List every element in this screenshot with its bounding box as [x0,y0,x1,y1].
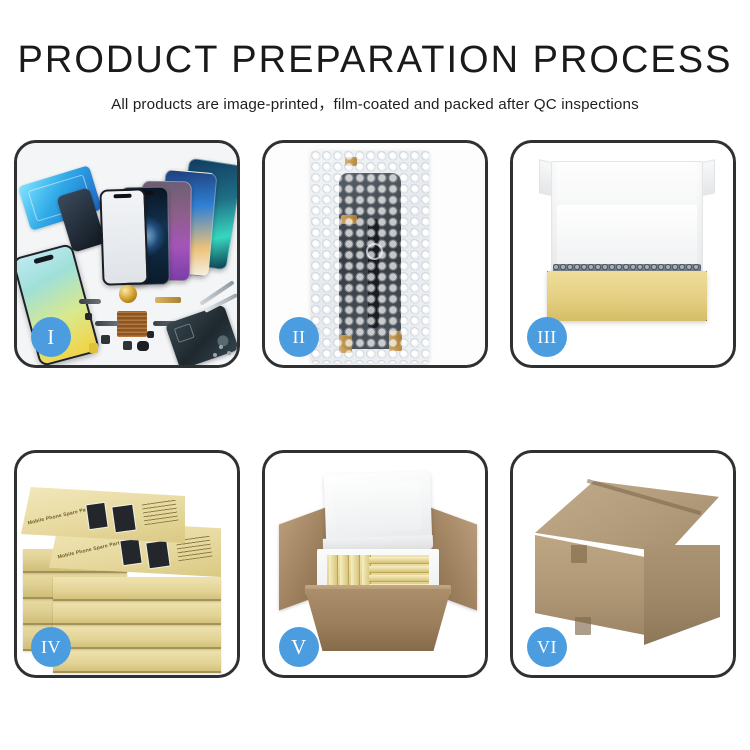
box-label-screen-image [145,540,171,570]
kraft-box-edge [369,575,429,582]
chip-part [85,313,92,320]
box-label-text: Mobile Phone Spare Parts [57,540,123,561]
step-card-6: VI [510,450,736,678]
step-badge-4: IV [31,627,71,667]
speaker-coil-part [119,285,137,303]
gold-flex-cable-part [155,297,181,303]
step-badge-1: I [31,317,71,357]
screw-part [219,345,223,349]
copper-mesh-part [117,311,147,337]
kraft-box-edge [369,566,429,573]
page-subtitle: All products are image-printed，film-coat… [0,92,750,114]
stacked-box [53,601,221,625]
box-label-text: Mobile Phone Spare Parts [27,506,93,527]
bracket-part [123,341,132,350]
tape-piece [341,215,357,224]
notch-icon [114,194,132,199]
stacked-box [53,649,221,673]
kraft-box-edge [369,557,429,564]
header: PRODUCT PREPARATION PROCESS All products… [0,0,750,114]
step-card-5: V [262,450,488,678]
flex-cable-part [95,321,119,326]
notch-icon [33,254,54,264]
stacked-box [53,577,221,601]
box-label-spec-lines [142,499,179,526]
step-badge-6: VI [527,627,567,667]
foam-box-lid [324,471,432,543]
step-badge-5: V [279,627,319,667]
stacked-box [53,625,221,649]
step-card-1: I [14,140,240,368]
phone-display-1 [99,188,148,286]
carton-tape-top [571,545,587,563]
product-preparation-infographic: PRODUCT PREPARATION PROCESS All products… [0,0,750,750]
bracket-part [101,335,110,344]
battery-part [89,343,98,353]
chip-part [147,331,154,338]
step-card-4: Mobile Phone Spare Parts Mobile Phone Sp… [14,450,240,678]
box-label-screen-image [111,504,137,534]
kraft-box-tray [547,271,707,321]
flex-cable-part [79,299,101,304]
tape-piece [339,335,352,353]
bubble-wrap-bag [311,151,429,363]
step-card-3: III [510,140,736,368]
step-badge-3: III [527,317,567,357]
step-card-2: II [262,140,488,368]
carton-right-face [644,545,720,645]
spare-parts-cluster [79,283,237,365]
camera-module-part [137,341,149,351]
page-title: PRODUCT PREPARATION PROCESS [0,41,750,79]
foam-pad [557,205,697,267]
back-housing-part [165,304,237,365]
box-label-screen-image [85,502,108,531]
tape-piece [345,157,357,166]
screw-part [213,353,217,357]
carton-body [305,589,451,651]
box-label-screen-image [119,538,142,567]
camera-ring-part [366,243,383,260]
top-box-lid-back: Mobile Phone Spare Parts [21,487,185,543]
flex-cable-part [368,219,379,328]
wrapped-display-part [339,173,401,349]
phone-display-fan [89,161,237,281]
step-badge-2: II [279,317,319,357]
tape-piece [389,331,402,351]
carton-tape-bottom [575,617,591,635]
screw-part [227,351,231,355]
